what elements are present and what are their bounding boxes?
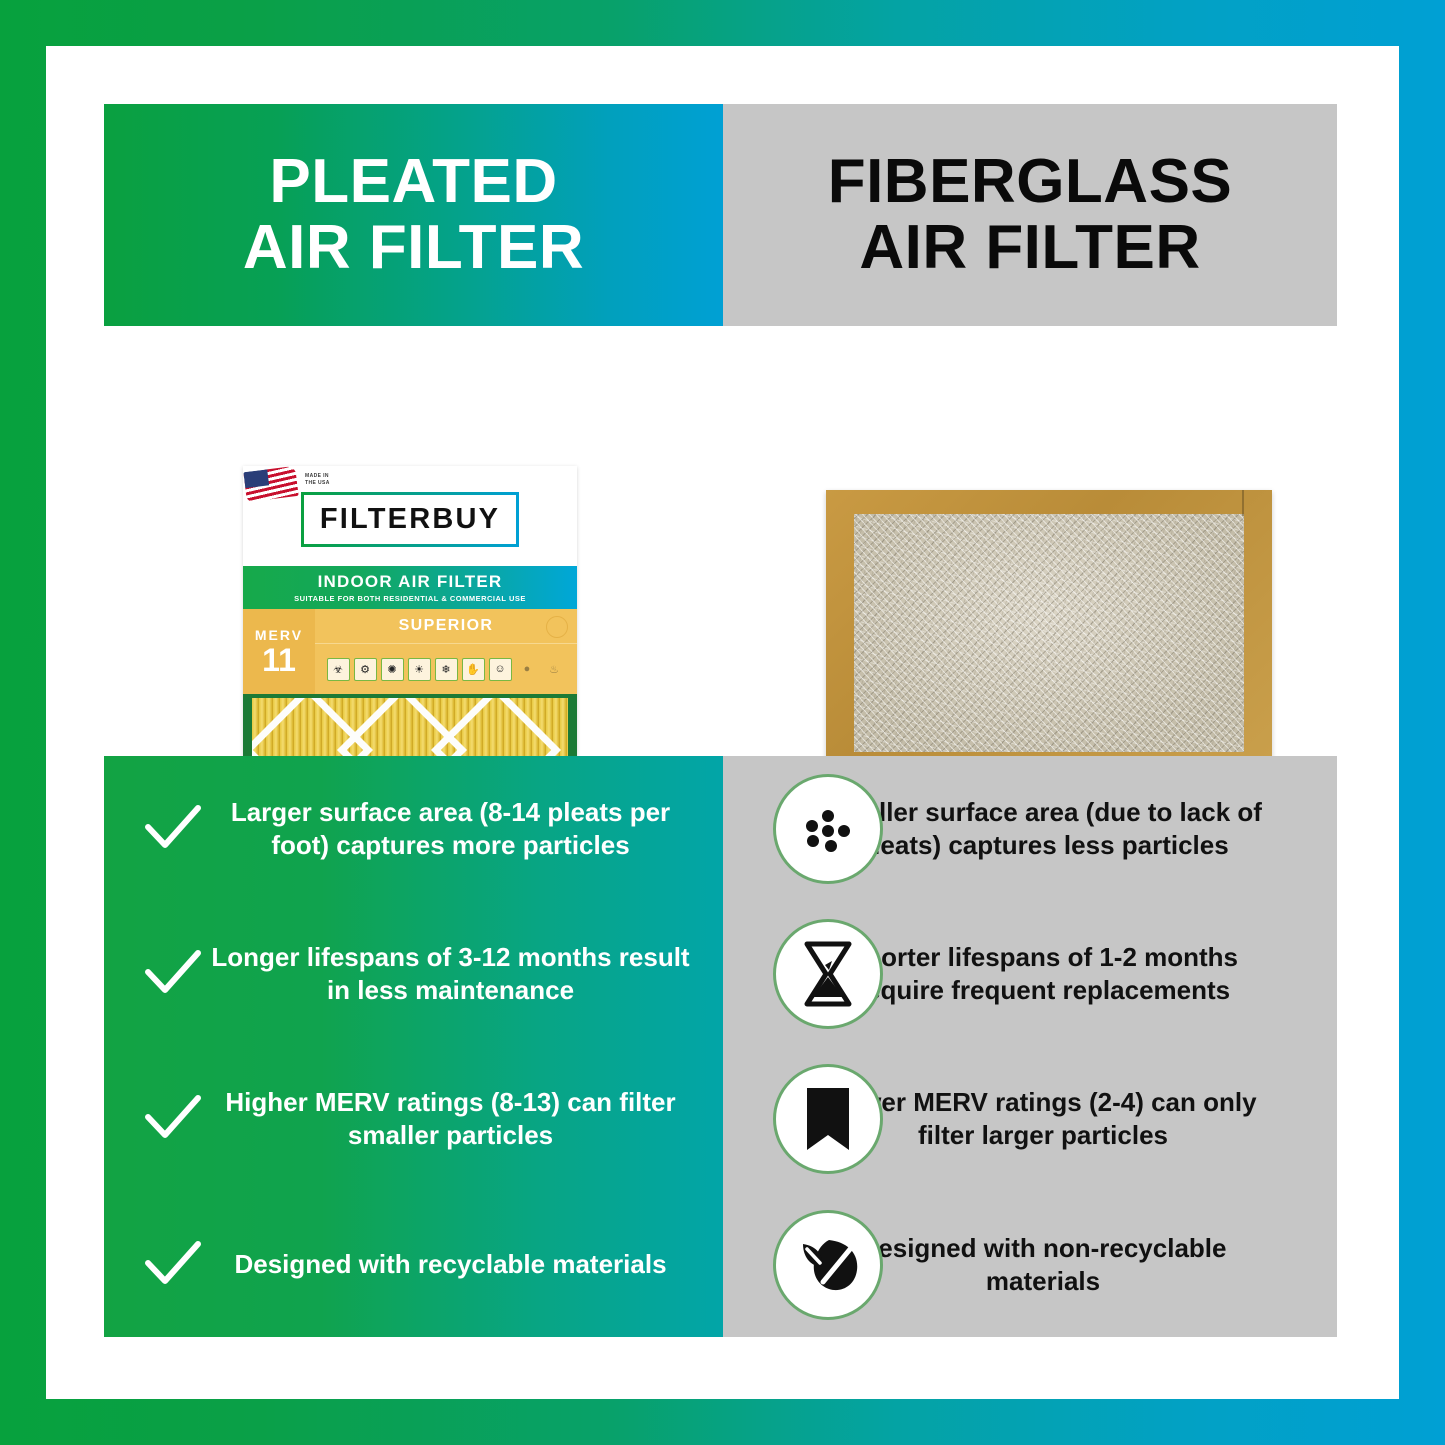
table-row: Longer lifespans of 3-12 months result i… bbox=[104, 901, 1337, 1046]
pet-dander-icon: ✋ bbox=[462, 658, 485, 681]
merv-label: MERV bbox=[255, 627, 303, 643]
checkmark-icon bbox=[142, 805, 204, 853]
filterbuy-logo: FILTERBUY bbox=[301, 492, 519, 547]
table-row: Higher MERV ratings (8-13) can filter sm… bbox=[104, 1046, 1337, 1191]
pollen-icon: ❄ bbox=[435, 658, 458, 681]
fiberglass-filter-product-image bbox=[826, 490, 1272, 778]
merv-value: 11 bbox=[262, 644, 296, 676]
leaf-icon bbox=[773, 1210, 883, 1320]
tier-and-icons: SUPERIOR ☣ ⚙ ✺ ☀ ❄ ✋ ☺ ● ♨ bbox=[315, 609, 577, 694]
odor-icon: ♨ bbox=[543, 658, 566, 681]
dust-icon: ☣ bbox=[327, 658, 350, 681]
header-pleated-line1: PLEATED bbox=[243, 149, 584, 215]
header-fiberglass: FIBERGLASS AIR FILTER bbox=[723, 104, 1337, 326]
headers-row: PLEATED AIR FILTER FIBERGLASS AIR FILTER bbox=[104, 104, 1337, 326]
made-in-line2: THE USA bbox=[305, 480, 330, 487]
comparison-content: PLEATED AIR FILTER FIBERGLASS AIR FILTER… bbox=[104, 104, 1337, 1337]
left-cell: Longer lifespans of 3-12 months result i… bbox=[104, 901, 723, 1046]
merv-rating-block: MERV 11 bbox=[243, 609, 315, 694]
merv-info-band: MERV 11 SUPERIOR ☣ ⚙ ✺ ☀ ❄ bbox=[243, 609, 577, 694]
header-fiberglass-line2: AIR FILTER bbox=[828, 215, 1233, 281]
tier-row: SUPERIOR bbox=[315, 609, 577, 644]
pill-icon: ● bbox=[516, 658, 539, 681]
band-title: INDOOR AIR FILTER bbox=[318, 572, 503, 592]
left-cell: Larger surface area (8-14 pleats per foo… bbox=[104, 756, 723, 901]
left-benefit-text: Higher MERV ratings (8-13) can filter sm… bbox=[204, 1086, 723, 1152]
mite-icon: ⚙ bbox=[354, 658, 377, 681]
checkmark-icon bbox=[142, 950, 204, 998]
feature-icons-row: ☣ ⚙ ✺ ☀ ❄ ✋ ☺ ● ♨ bbox=[315, 644, 577, 694]
header-fiberglass-line1: FIBERGLASS bbox=[828, 149, 1233, 215]
header-pleated-title: PLEATED AIR FILTER bbox=[243, 149, 584, 280]
left-benefit-text: Designed with recyclable materials bbox=[204, 1248, 723, 1281]
ul-listed-icon bbox=[546, 616, 568, 638]
usa-flag-icon bbox=[243, 466, 298, 502]
indoor-air-filter-band: INDOOR AIR FILTER SUITABLE FOR BOTH RESI… bbox=[243, 566, 577, 609]
left-cell: Designed with recyclable materials bbox=[104, 1192, 723, 1337]
comparison-body: Larger surface area (8-14 pleats per foo… bbox=[104, 756, 1337, 1337]
particles-icon bbox=[773, 774, 883, 884]
filterbuy-logo-text: FILTERBUY bbox=[320, 503, 500, 536]
header-fiberglass-title: FIBERGLASS AIR FILTER bbox=[828, 149, 1233, 280]
checkmark-icon bbox=[142, 1241, 204, 1289]
band-subtitle: SUITABLE FOR BOTH RESIDENTIAL & COMMERCI… bbox=[294, 594, 526, 603]
frame-seam bbox=[1242, 490, 1244, 516]
product-images-band: MADE IN THE USA FILTERBUY INDOOR AIR FIL… bbox=[104, 326, 1337, 756]
made-in-usa-text: MADE IN THE USA bbox=[305, 473, 330, 488]
bookmark-icon bbox=[773, 1064, 883, 1174]
table-row: Designed with recyclable materials Desig… bbox=[104, 1192, 1337, 1337]
hourglass-icon bbox=[773, 919, 883, 1029]
mold-icon: ☀ bbox=[408, 658, 431, 681]
header-pleated-line2: AIR FILTER bbox=[243, 215, 584, 281]
header-pleated: PLEATED AIR FILTER bbox=[104, 104, 723, 326]
comparison-rows: Larger surface area (8-14 pleats per foo… bbox=[104, 756, 1337, 1337]
infographic-frame: PLEATED AIR FILTER FIBERGLASS AIR FILTER… bbox=[0, 0, 1445, 1445]
tier-label: SUPERIOR bbox=[399, 617, 494, 635]
made-in-line1: MADE IN bbox=[305, 473, 330, 480]
product-box-top: MADE IN THE USA FILTERBUY bbox=[243, 466, 577, 566]
left-benefit-text: Longer lifespans of 3-12 months result i… bbox=[204, 941, 723, 1007]
left-cell: Higher MERV ratings (8-13) can filter sm… bbox=[104, 1046, 723, 1191]
left-benefit-text: Larger surface area (8-14 pleats per foo… bbox=[204, 796, 723, 862]
fiberglass-mesh bbox=[854, 514, 1244, 752]
smoke-icon: ☺ bbox=[489, 658, 512, 681]
checkmark-icon bbox=[142, 1095, 204, 1143]
table-row: Larger surface area (8-14 pleats per foo… bbox=[104, 756, 1337, 901]
bacteria-icon: ✺ bbox=[381, 658, 404, 681]
